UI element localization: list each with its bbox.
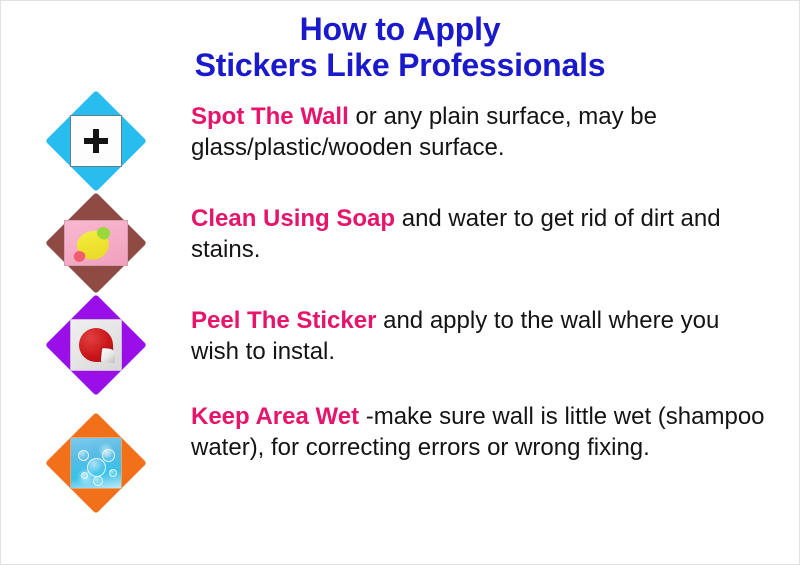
step-lead: Keep Area Wet [191, 403, 359, 430]
page-title: How to Apply Stickers Like Professionals [1, 1, 799, 83]
step-text: Keep Area Wet -make sure wall is little … [191, 401, 769, 463]
bubble-icon [109, 469, 117, 477]
step-2-text-cell: Clean Using Soap and water to get rid of… [191, 193, 799, 265]
bubble-icon [93, 476, 103, 486]
step-item: Spot The Wall or any plain surface, may … [1, 91, 799, 189]
bubble-icon [87, 458, 106, 477]
title-line-2: Stickers Like Professionals [1, 47, 799, 83]
step-4-text-cell: Keep Area Wet -make sure wall is little … [191, 397, 799, 463]
title-line-1: How to Apply [1, 11, 799, 47]
step-3-icon-cell [1, 295, 191, 393]
plus-icon [82, 127, 110, 155]
red-sticker-icon [78, 327, 113, 362]
bubble-icon [78, 450, 89, 461]
plus-tile [70, 115, 122, 167]
bubble-icon [81, 472, 88, 479]
peeling-sticker-diamond-icon [48, 297, 144, 393]
red-sticker-tile [70, 319, 122, 371]
step-4-icon-cell [1, 397, 191, 511]
step-lead: Clean Using Soap [191, 205, 395, 232]
step-item: Keep Area Wet -make sure wall is little … [1, 397, 799, 511]
step-lead: Peel The Sticker [191, 307, 376, 334]
step-text: Clean Using Soap and water to get rid of… [191, 203, 769, 265]
step-2-icon-cell [1, 193, 191, 291]
step-1-text-cell: Spot The Wall or any plain surface, may … [191, 91, 799, 163]
step-item: Peel The Sticker and apply to the wall w… [1, 295, 799, 393]
steps-list: Spot The Wall or any plain surface, may … [1, 91, 799, 511]
water-bubbles-diamond-icon [48, 415, 144, 511]
step-lead: Spot The Wall [191, 103, 349, 130]
poster-root: How to Apply Stickers Like Professionals… [0, 0, 800, 565]
step-text: Spot The Wall or any plain surface, may … [191, 101, 769, 163]
sticker-peel-corner-icon [101, 348, 116, 363]
step-item: Clean Using Soap and water to get rid of… [1, 193, 799, 291]
cleaning-glove-diamond-icon [48, 195, 144, 291]
plus-diamond-icon [48, 93, 144, 189]
step-text: Peel The Sticker and apply to the wall w… [191, 305, 769, 367]
bubble-icon [102, 449, 115, 462]
step-1-icon-cell [1, 91, 191, 189]
step-3-text-cell: Peel The Sticker and apply to the wall w… [191, 295, 799, 367]
water-bubbles-tile [70, 437, 122, 489]
glove-sponge-tile [64, 220, 128, 266]
